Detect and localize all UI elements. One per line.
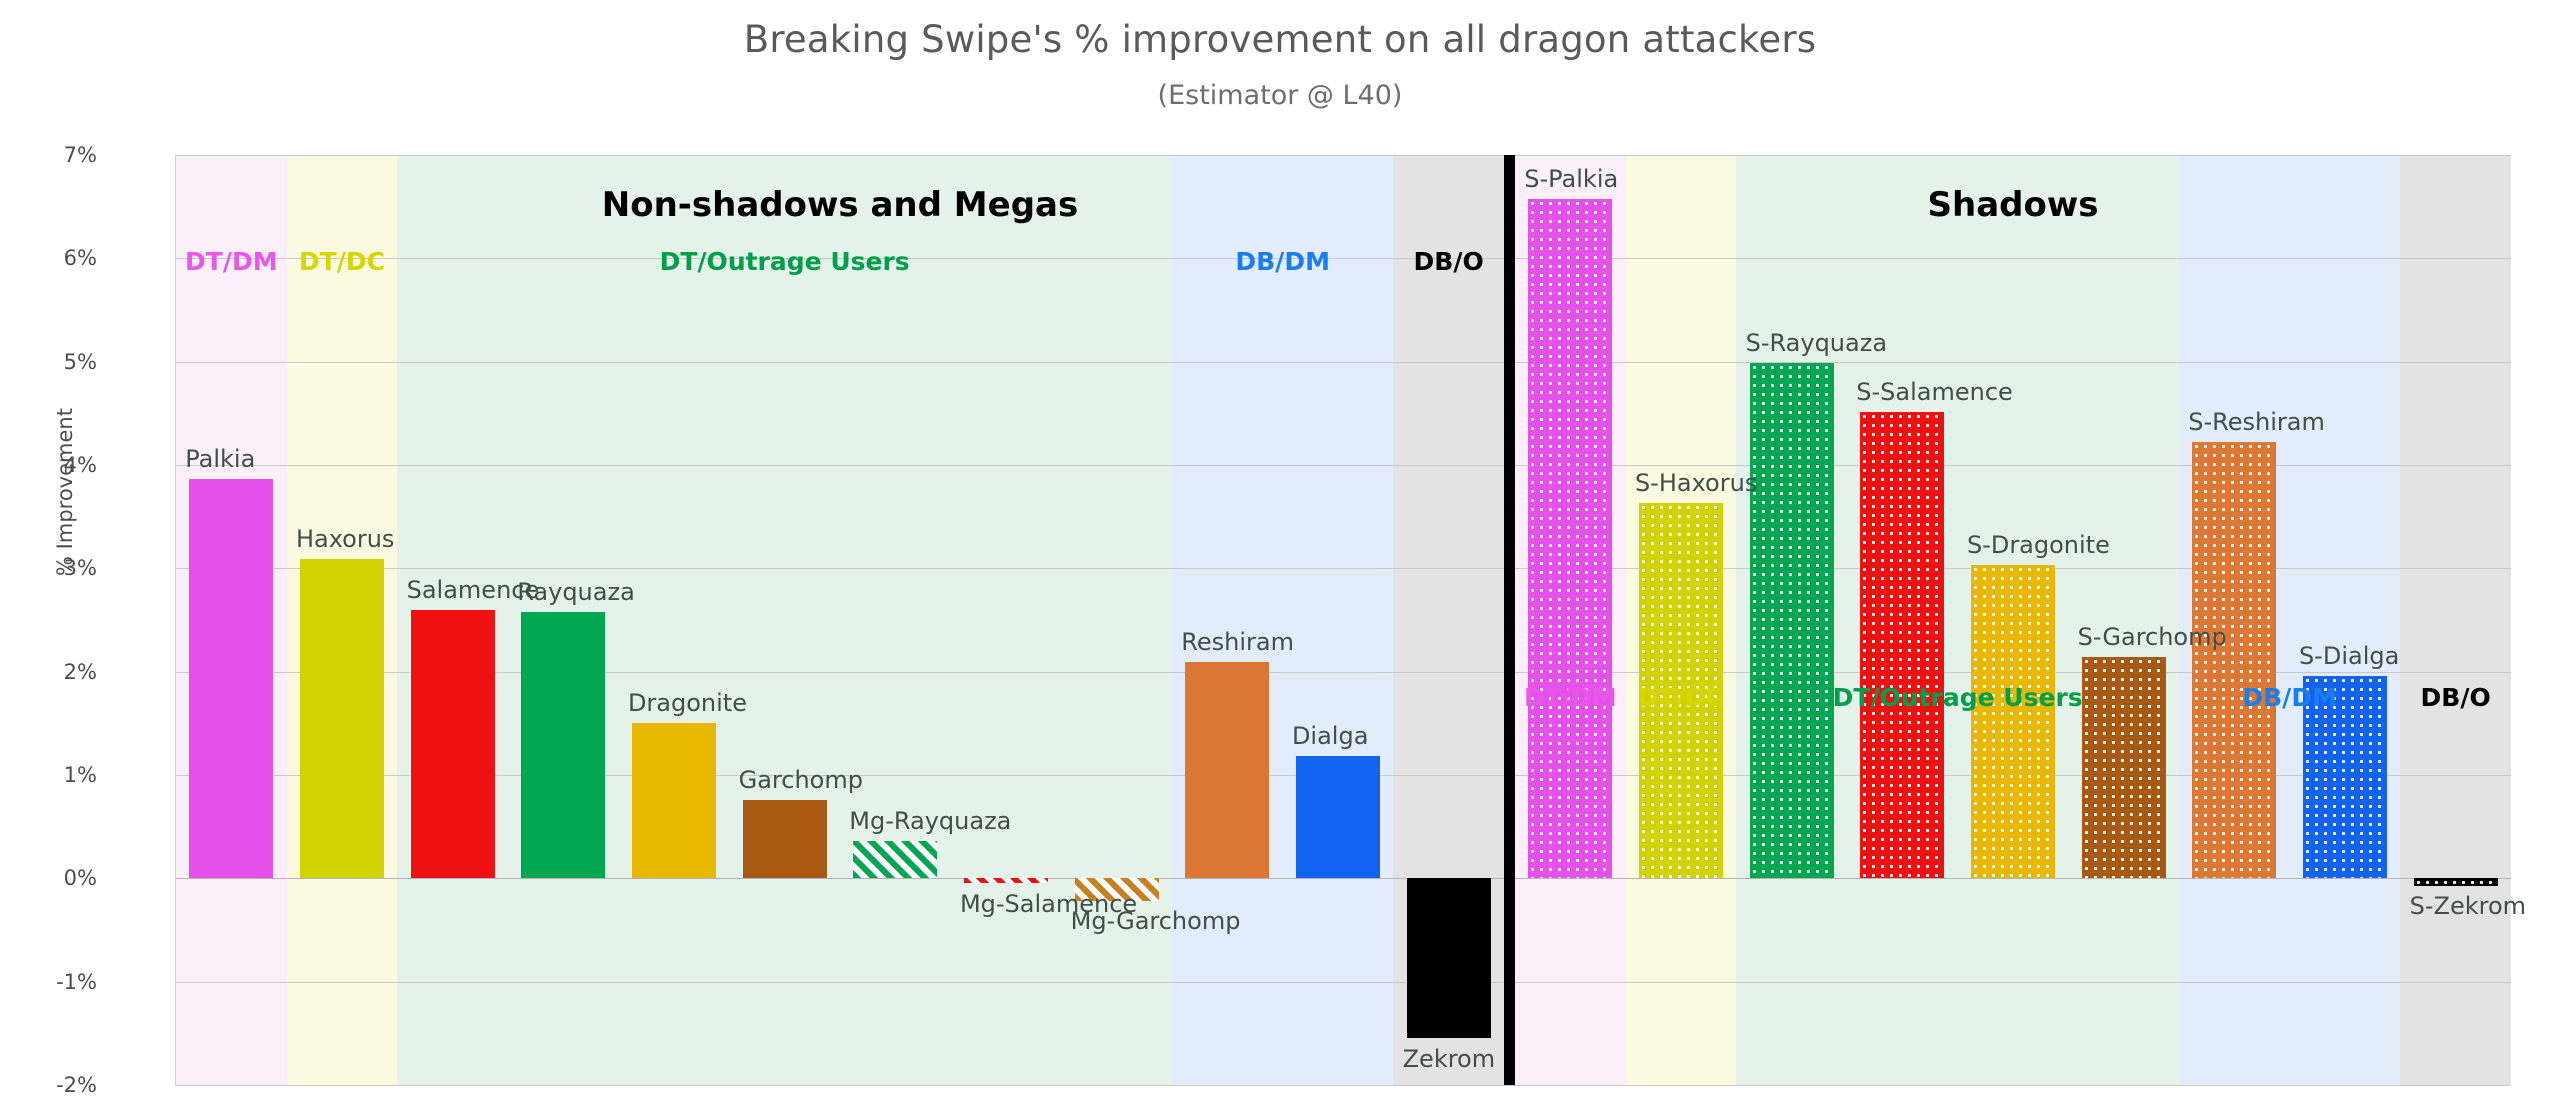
y-tick-label: 5% [7,350,97,374]
bar-label-s-dragonite: S-Dragonite [1967,531,2110,559]
y-tick-label: 6% [7,246,97,270]
panel-title-shadows: Shadows [1515,185,2511,225]
plot-bottom-border [175,1085,2510,1086]
category-label-dt-dm: DT/DM [176,247,287,276]
category-label-dt-outrage-users: DT/Outrage Users [1736,683,2179,712]
bar-label-mg-garchomp: Mg-Garchomp [1071,907,1241,935]
bar-label-mg-rayquaza: Mg-Rayquaza [849,807,1011,835]
bar-palkia[interactable] [189,479,273,878]
bar-dialga[interactable] [1296,756,1380,878]
category-label-dt-dc: DT/DC [287,247,398,276]
y-tick-label: 2% [7,660,97,684]
bar-s-salamence[interactable] [1860,412,1944,878]
y-axis-ticks: 7%6%5%4%3%2%1%0%-1%-2% [0,0,97,1115]
category-band-dt-outrage-users [397,155,1172,1085]
chart-title: Breaking Swipe's % improvement on all dr… [0,18,2560,61]
bar-mg-rayquaza[interactable] [853,841,937,878]
category-label-dt-dc: DT/DC [1626,683,1737,712]
bar-label-s-dialga: S-Dialga [2299,642,2399,670]
y-tick-label: 3% [7,556,97,580]
chart-root: Breaking Swipe's % improvement on all dr… [0,0,2560,1115]
bar-s-reshiram[interactable] [2192,442,2276,878]
bar-garchomp[interactable] [743,800,827,879]
bar-rayquaza[interactable] [521,612,605,879]
y-tick-label: -2% [7,1073,97,1097]
gridline [176,568,2511,569]
y-tick-label: 4% [7,453,97,477]
bar-label-reshiram: Reshiram [1181,628,1294,656]
category-label-db-o: DB/O [1393,247,1504,276]
y-tick-label: -1% [7,970,97,994]
gridline [176,362,2511,363]
bar-label-s-zekrom: S-Zekrom [2410,892,2526,920]
bar-label-s-salamence: S-Salamence [1856,378,2013,406]
bar-s-palkia[interactable] [1528,199,1612,878]
y-tick-label: 1% [7,763,97,787]
bar-mg-salamence[interactable] [964,878,1048,883]
panel-divider [1504,155,1515,1085]
category-label-db-dm: DB/DM [1172,247,1393,276]
plot-top-border [175,155,2510,156]
y-tick-label: 7% [7,143,97,167]
panel-title-non-shadows: Non-shadows and Megas [176,185,1504,225]
bar-label-rayquaza: Rayquaza [517,578,635,606]
category-band-db-dm [1172,155,1393,1085]
bar-salamence[interactable] [411,610,495,879]
bar-label-palkia: Palkia [185,445,255,473]
bar-label-s-reshiram: S-Reshiram [2188,408,2325,436]
bar-label-s-palkia: S-Palkia [1524,165,1618,193]
plot-area: PalkiaHaxorusSalamenceRayquazaDragoniteG… [175,155,2511,1085]
bar-label-s-haxorus: S-Haxorus [1635,469,1757,497]
bar-reshiram[interactable] [1185,662,1269,878]
y-tick-label: 0% [7,866,97,890]
bar-label-zekrom: Zekrom [1403,1045,1496,1073]
bar-label-dragonite: Dragonite [628,689,747,717]
gridline [176,465,2511,466]
category-label-db-o: DB/O [2400,683,2511,712]
chart-subtitle: (Estimator @ L40) [0,80,2560,111]
bar-label-s-rayquaza: S-Rayquaza [1746,329,1887,357]
bar-label-haxorus: Haxorus [296,525,394,553]
gridline [176,982,2511,983]
category-label-dt-dm: DT/DM [1515,683,1626,712]
gridline [176,878,2511,879]
bar-label-s-garchomp: S-Garchomp [2078,623,2227,651]
category-label-dt-outrage-users: DT/Outrage Users [397,247,1172,276]
bar-dragonite[interactable] [632,723,716,878]
bar-s-rayquaza[interactable] [1750,363,1834,879]
bar-label-garchomp: Garchomp [739,766,863,794]
bar-s-zekrom[interactable] [2414,878,2498,885]
category-label-db-dm: DB/DM [2179,683,2400,712]
bar-zekrom[interactable] [1407,878,1491,1038]
bar-label-dialga: Dialga [1292,722,1368,750]
bar-s-dragonite[interactable] [1971,565,2055,878]
bar-haxorus[interactable] [300,559,384,878]
category-band-db-o [2400,155,2511,1085]
